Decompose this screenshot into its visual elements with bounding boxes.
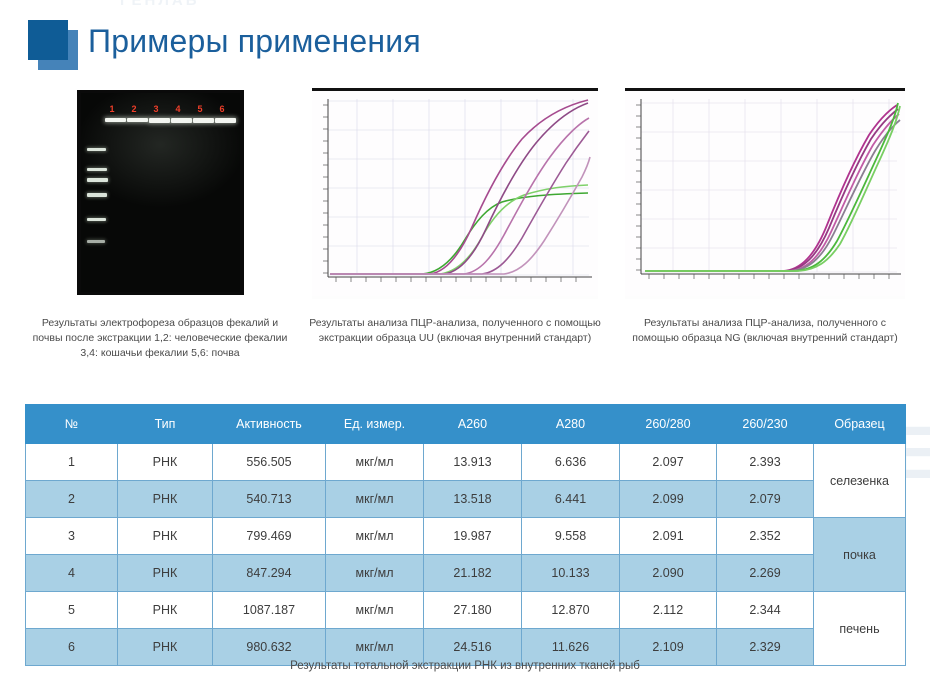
logo-icon bbox=[24, 18, 82, 74]
cell-a280: 10.133 bbox=[522, 555, 620, 592]
cell-activity: 799.469 bbox=[213, 518, 326, 555]
column-header-a260[interactable]: A260 bbox=[424, 405, 522, 444]
gel-band bbox=[215, 118, 236, 123]
cell-a280: 6.441 bbox=[522, 481, 620, 518]
gel-lane-label-6: 6 bbox=[220, 104, 225, 114]
gel-band bbox=[149, 118, 170, 123]
results-table: № Тип Активность Ед. измер. A260 A280 26… bbox=[25, 404, 906, 666]
cell-a280: 9.558 bbox=[522, 518, 620, 555]
cell-unit: мкг/мл bbox=[326, 481, 424, 518]
ladder-band bbox=[87, 193, 107, 197]
cell-sample: почка bbox=[814, 518, 906, 592]
cell-260-280: 2.097 bbox=[620, 444, 717, 481]
figure-pcr-uu: Результаты анализа ПЦР-анализа, полученн… bbox=[300, 88, 610, 299]
cell-260-230: 2.393 bbox=[717, 444, 814, 481]
cell-a260: 21.182 bbox=[424, 555, 522, 592]
table-row[interactable]: 3 РНК 799.469 мкг/мл 19.987 9.558 2.091 … bbox=[26, 518, 906, 555]
page-title: Примеры применения bbox=[88, 20, 421, 62]
cell-a280: 12.870 bbox=[522, 592, 620, 629]
table-header-row: № Тип Активность Ед. измер. A260 A280 26… bbox=[26, 405, 906, 444]
pcr-uu-svg bbox=[312, 91, 598, 296]
cell-260-230: 2.352 bbox=[717, 518, 814, 555]
cell-unit: мкг/мл bbox=[326, 555, 424, 592]
ladder-band bbox=[87, 240, 105, 243]
cell-a280: 6.636 bbox=[522, 444, 620, 481]
ladder-band bbox=[87, 178, 108, 182]
pcr-ng-svg bbox=[625, 91, 905, 296]
table-row[interactable]: 4 РНК 847.294 мкг/мл 21.182 10.133 2.090… bbox=[26, 555, 906, 592]
figure-strip: 1 2 3 4 5 6 Результаты электрофореза обр… bbox=[0, 88, 930, 388]
cell-unit: мкг/мл bbox=[326, 518, 424, 555]
figure-gel-electrophoresis: 1 2 3 4 5 6 Результаты электрофореза обр… bbox=[20, 88, 300, 295]
cell-activity: 847.294 bbox=[213, 555, 326, 592]
cell-type: РНК bbox=[118, 444, 213, 481]
gel-lane-label-4: 4 bbox=[176, 104, 181, 114]
gel-band bbox=[171, 118, 192, 123]
figure-caption-pcr-ng: Результаты анализа ПЦР-анализа, полученн… bbox=[615, 316, 915, 346]
gel-image: 1 2 3 4 5 6 bbox=[77, 90, 244, 295]
column-header-unit[interactable]: Ед. измер. bbox=[326, 405, 424, 444]
cell-type: РНК bbox=[118, 518, 213, 555]
column-header-260-230[interactable]: 260/230 bbox=[717, 405, 814, 444]
cell-no: 4 bbox=[26, 555, 118, 592]
column-header-no[interactable]: № bbox=[26, 405, 118, 444]
table-caption: Результаты тотальной экстракции РНК из в… bbox=[0, 660, 930, 672]
table-row[interactable]: 2 РНК 540.713 мкг/мл 13.518 6.441 2.099 … bbox=[26, 481, 906, 518]
gel-lane-label-1: 1 bbox=[110, 104, 115, 114]
figure-pcr-ng: Результаты анализа ПЦР-анализа, полученн… bbox=[615, 88, 915, 299]
cell-a260: 13.518 bbox=[424, 481, 522, 518]
cell-no: 5 bbox=[26, 592, 118, 629]
cell-260-280: 2.091 bbox=[620, 518, 717, 555]
cell-activity: 1087.187 bbox=[213, 592, 326, 629]
results-table-container: № Тип Активность Ед. измер. A260 A280 26… bbox=[25, 404, 905, 666]
gel-band bbox=[105, 118, 126, 122]
cell-260-230: 2.344 bbox=[717, 592, 814, 629]
gel-lane-label-2: 2 bbox=[132, 104, 137, 114]
cell-260-280: 2.112 bbox=[620, 592, 717, 629]
cell-sample: селезенка bbox=[814, 444, 906, 518]
ladder-band bbox=[87, 218, 106, 221]
cell-unit: мкг/мл bbox=[326, 444, 424, 481]
cell-type: РНК bbox=[118, 555, 213, 592]
cell-260-230: 2.079 bbox=[717, 481, 814, 518]
table-row[interactable]: 5 РНК 1087.187 мкг/мл 27.180 12.870 2.11… bbox=[26, 592, 906, 629]
cell-no: 3 bbox=[26, 518, 118, 555]
cell-260-280: 2.099 bbox=[620, 481, 717, 518]
cell-activity: 556.505 bbox=[213, 444, 326, 481]
gel-band bbox=[127, 118, 148, 122]
ladder-band bbox=[87, 168, 107, 171]
page-header: Примеры применения bbox=[0, 0, 930, 82]
column-header-a280[interactable]: A280 bbox=[522, 405, 620, 444]
cell-activity: 540.713 bbox=[213, 481, 326, 518]
cell-sample: печень bbox=[814, 592, 906, 666]
cell-a260: 27.180 bbox=[424, 592, 522, 629]
cell-no: 1 bbox=[26, 444, 118, 481]
gel-lane-label-5: 5 bbox=[198, 104, 203, 114]
cell-a260: 13.913 bbox=[424, 444, 522, 481]
cell-type: РНК bbox=[118, 481, 213, 518]
figure-caption-gel: Результаты электрофореза образцов фекали… bbox=[20, 316, 300, 361]
cell-a260: 19.987 bbox=[424, 518, 522, 555]
ladder-band bbox=[87, 148, 106, 151]
column-header-activity[interactable]: Активность bbox=[213, 405, 326, 444]
cell-no: 2 bbox=[26, 481, 118, 518]
cell-260-280: 2.090 bbox=[620, 555, 717, 592]
logo-square-front bbox=[28, 20, 68, 60]
column-header-type[interactable]: Тип bbox=[118, 405, 213, 444]
pcr-chart-uu bbox=[312, 88, 598, 299]
figure-caption-pcr-uu: Результаты анализа ПЦР-анализа, полученн… bbox=[300, 316, 610, 346]
table-row[interactable]: 1 РНК 556.505 мкг/мл 13.913 6.636 2.097 … bbox=[26, 444, 906, 481]
cell-type: РНК bbox=[118, 592, 213, 629]
gel-band bbox=[193, 118, 214, 123]
cell-260-230: 2.269 bbox=[717, 555, 814, 592]
column-header-260-280[interactable]: 260/280 bbox=[620, 405, 717, 444]
column-header-sample[interactable]: Образец bbox=[814, 405, 906, 444]
gel-lane-label-3: 3 bbox=[154, 104, 159, 114]
pcr-chart-ng bbox=[625, 88, 905, 299]
cell-unit: мкг/мл bbox=[326, 592, 424, 629]
